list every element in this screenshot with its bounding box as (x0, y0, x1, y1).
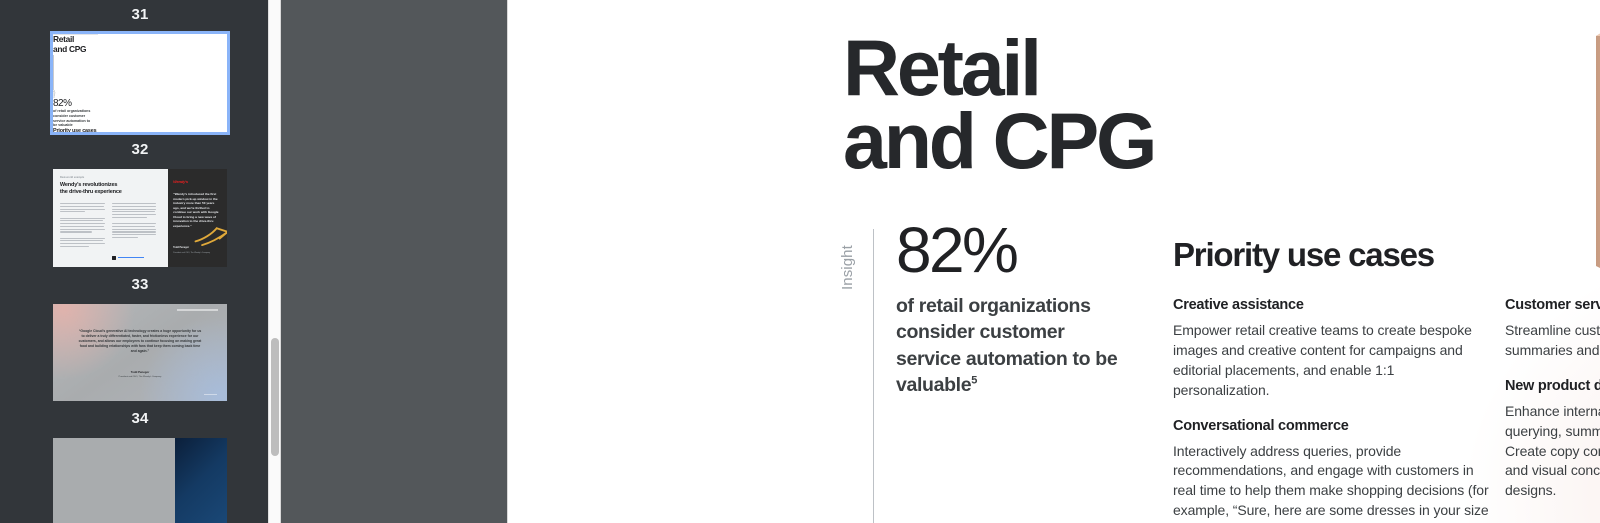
thumb31-title: Retail and CPG (53, 35, 227, 55)
thumb32-attribution: Todd Penegor (173, 246, 189, 249)
thumbnail-32[interactable]: Real-world example Wendy's revolutionize… (50, 166, 230, 270)
thumbnail-33[interactable]: “Google Cloud's generative AI technology… (50, 301, 230, 405)
insight-percent: 82% (896, 221, 1126, 280)
thumb33-quote: “Google Cloud's generative AI technology… (77, 329, 202, 355)
thumb32-badge-icon (112, 256, 116, 260)
thumb34-left-panel (53, 438, 175, 523)
thumb31-insight-label: Insight (53, 90, 56, 98)
use-cases-column-left: Creative assistance Empower retail creat… (1173, 297, 1491, 523)
thumb32-body-column-b (112, 203, 157, 240)
use-cases-column-right: Customer service automation Streamline c… (1505, 297, 1600, 501)
thumbnail-31[interactable]: Retail and CPG Insight 82% of retail org… (50, 31, 230, 135)
thumb32-brand: Wendy's (173, 179, 188, 184)
shopping-bag-large (1596, 22, 1600, 278)
thumb33-header-rule (177, 309, 219, 310)
shopping-bags-image (1584, 10, 1600, 300)
use-case-text: Interactively address queries, provide r… (1173, 442, 1491, 523)
use-case-item: New product development Enhance internal… (1505, 378, 1600, 501)
thumbnail-page-number-32: 32 (0, 135, 280, 166)
document-viewer: Chapter 03 | The value of generative AI … (280, 0, 1600, 523)
thumbnail-page-number-31: 31 (0, 0, 280, 31)
thumb32-left-panel: Real-world example Wendy's revolutionize… (53, 169, 168, 267)
thumb31-divider (53, 55, 54, 90)
thumbnail-block-33: 33 “Google Cloud's generative AI technol… (0, 270, 280, 405)
use-case-item: Customer service automation Streamline c… (1505, 297, 1600, 361)
insight-divider (873, 229, 874, 523)
thumb31-percent: 82% (53, 98, 227, 109)
thumb32-body-column-a (60, 203, 105, 249)
insight-label: Insight (839, 232, 856, 290)
insight-block: Insight 82% of retail organizations cons… (839, 229, 1126, 523)
thumbnail-scrollbar[interactable] (268, 0, 280, 523)
thumbnail-scrollbar-thumb[interactable] (271, 338, 279, 456)
use-case-text: Streamline customer service with convers… (1505, 321, 1600, 361)
thumb32-badge-link (118, 257, 144, 258)
thumbnail-block-32: 32 Real-world example Wendy's revolution… (0, 135, 280, 270)
thumbnail-page-number-33: 33 (0, 270, 280, 301)
use-case-title: New product development (1505, 378, 1600, 394)
thumb31-use-cases-heading: Priority use cases (53, 128, 227, 132)
viewer-gutter (280, 0, 508, 523)
use-case-title: Creative assistance (1173, 297, 1491, 313)
thumb31-statement: of retail organizations consider custome… (53, 109, 91, 128)
insight-footnote-marker: 5 (971, 375, 977, 387)
use-case-text: Enhance internal consumer research with … (1505, 402, 1600, 501)
thumbnail-rail: 31 Retail and CPG Insight 82% of retail … (0, 0, 280, 523)
page-title: Retail and CPG (843, 32, 1154, 177)
use-case-item: Conversational commerce Interactively ad… (1173, 418, 1491, 523)
use-case-item: Creative assistance Empower retail creat… (1173, 297, 1491, 401)
thumbnail-block-34: 34 (0, 404, 280, 523)
use-case-text: Empower retail creative teams to create … (1173, 321, 1491, 401)
thumb33-name: Todd Penegor (77, 370, 202, 374)
thumb33-footer-rule (204, 394, 216, 395)
thumbnail-34[interactable] (50, 435, 230, 523)
thumbnail-block-31: 31 Retail and CPG Insight 82% of retail … (0, 0, 280, 135)
thumb32-link-badge[interactable] (112, 256, 144, 260)
use-cases-heading: Priority use cases (1173, 236, 1434, 274)
thumb33-role: President and CEO, The Wendy's Company (77, 376, 202, 378)
thumb34-right-image (175, 438, 227, 523)
thumbnail-page-number-34: 34 (0, 404, 280, 435)
thumbnail-strip: 31 Retail and CPG Insight 82% of retail … (0, 0, 280, 523)
thumb32-right-panel: Wendy's “Wendy's introduced the first mo… (168, 169, 227, 267)
insight-statement-text: of retail organizations consider custome… (896, 295, 1117, 397)
thumb32-arrow-icon (194, 216, 227, 255)
use-case-title: Conversational commerce (1173, 418, 1491, 434)
document-page: Chapter 03 | The value of generative AI … (509, 0, 1600, 523)
thumb32-title: Wendy's revolutionizes the drive-thru ex… (60, 182, 122, 195)
thumb32-eyebrow: Real-world example (60, 176, 84, 179)
pdf-viewer: 31 Retail and CPG Insight 82% of retail … (0, 0, 1600, 523)
insight-statement: of retail organizations consider custome… (896, 293, 1126, 399)
